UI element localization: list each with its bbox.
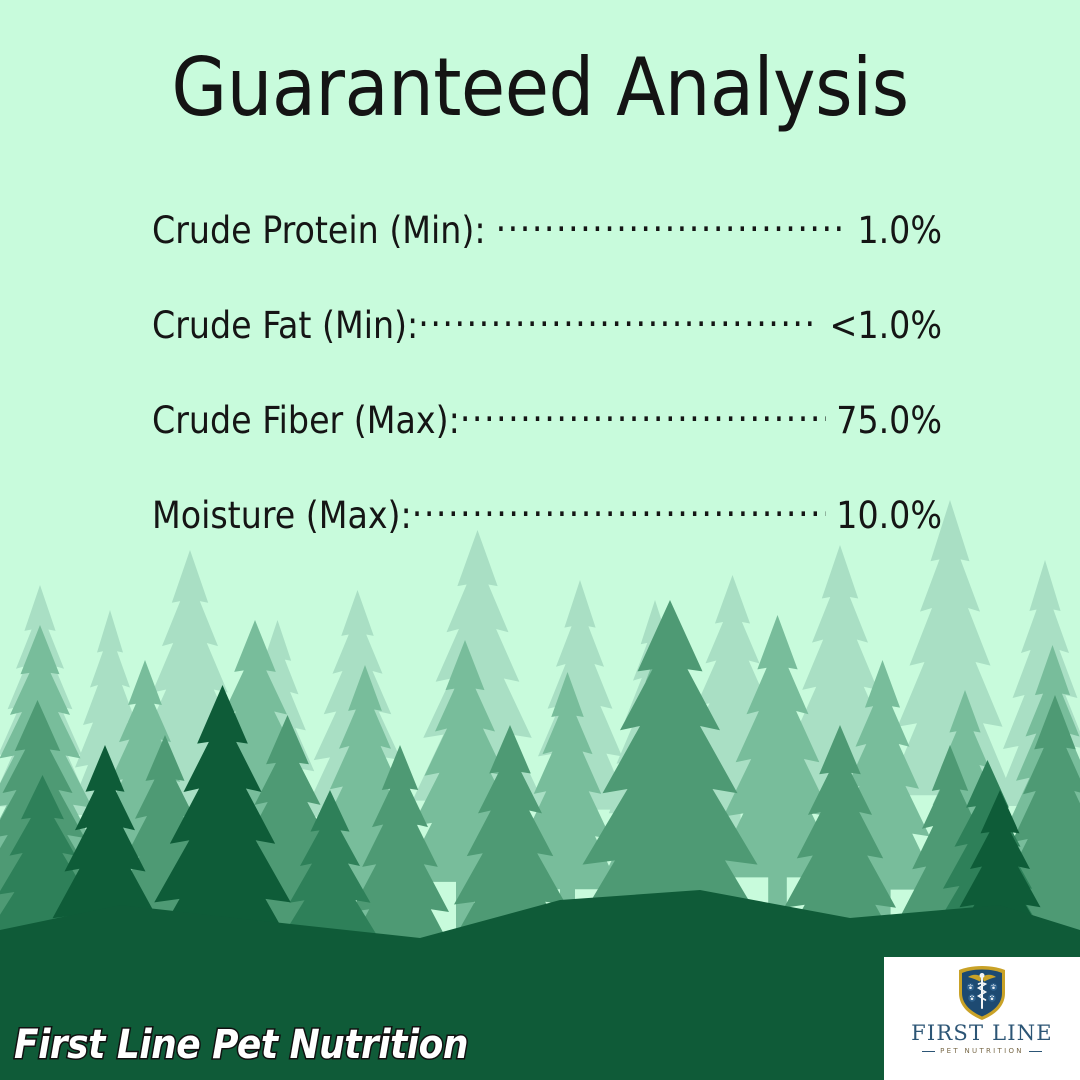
caduceus-shield-icon — [957, 965, 1007, 1021]
dot-leader — [460, 396, 826, 433]
analysis-label: Crude Fat (Min): — [152, 302, 418, 350]
analysis-row-crude-fiber: Crude Fiber (Max): 75.0% — [152, 396, 942, 491]
guaranteed-analysis-list: Crude Protein (Min): 1.0% Crude Fat (Min… — [152, 206, 942, 586]
analysis-label: Crude Protein (Min): — [152, 207, 496, 255]
page-title: Guaranteed Analysis — [0, 48, 1080, 128]
analysis-row-moisture: Moisture (Max): 10.0% — [152, 491, 942, 586]
analysis-label: Crude Fiber (Max): — [152, 397, 460, 445]
logo-rule-right — [1029, 1051, 1042, 1053]
analysis-row-crude-protein: Crude Protein (Min): 1.0% — [152, 206, 942, 301]
logo-tagline: PET NUTRITION — [940, 1048, 1024, 1055]
guaranteed-analysis-graphic: Guaranteed Analysis Crude Protein (Min):… — [0, 0, 1080, 1080]
dot-leader — [418, 301, 819, 338]
analysis-value: 75.0% — [826, 397, 942, 445]
analysis-value: <1.0% — [820, 302, 942, 350]
brand-wordmark: First Line Pet Nutrition — [14, 1022, 468, 1068]
logo-tagline-row: PET NUTRITION — [922, 1048, 1042, 1055]
analysis-label: Moisture (Max): — [152, 492, 412, 540]
logo-rule-left — [922, 1051, 935, 1053]
dot-leader — [412, 491, 827, 528]
logo-name: FIRST LINE — [911, 1023, 1053, 1044]
logo-card: FIRST LINE PET NUTRITION — [884, 957, 1080, 1080]
analysis-row-crude-fat: Crude Fat (Min): <1.0% — [152, 301, 942, 396]
analysis-value: 1.0% — [847, 207, 942, 255]
analysis-value: 10.0% — [826, 492, 942, 540]
dot-leader — [496, 206, 848, 243]
